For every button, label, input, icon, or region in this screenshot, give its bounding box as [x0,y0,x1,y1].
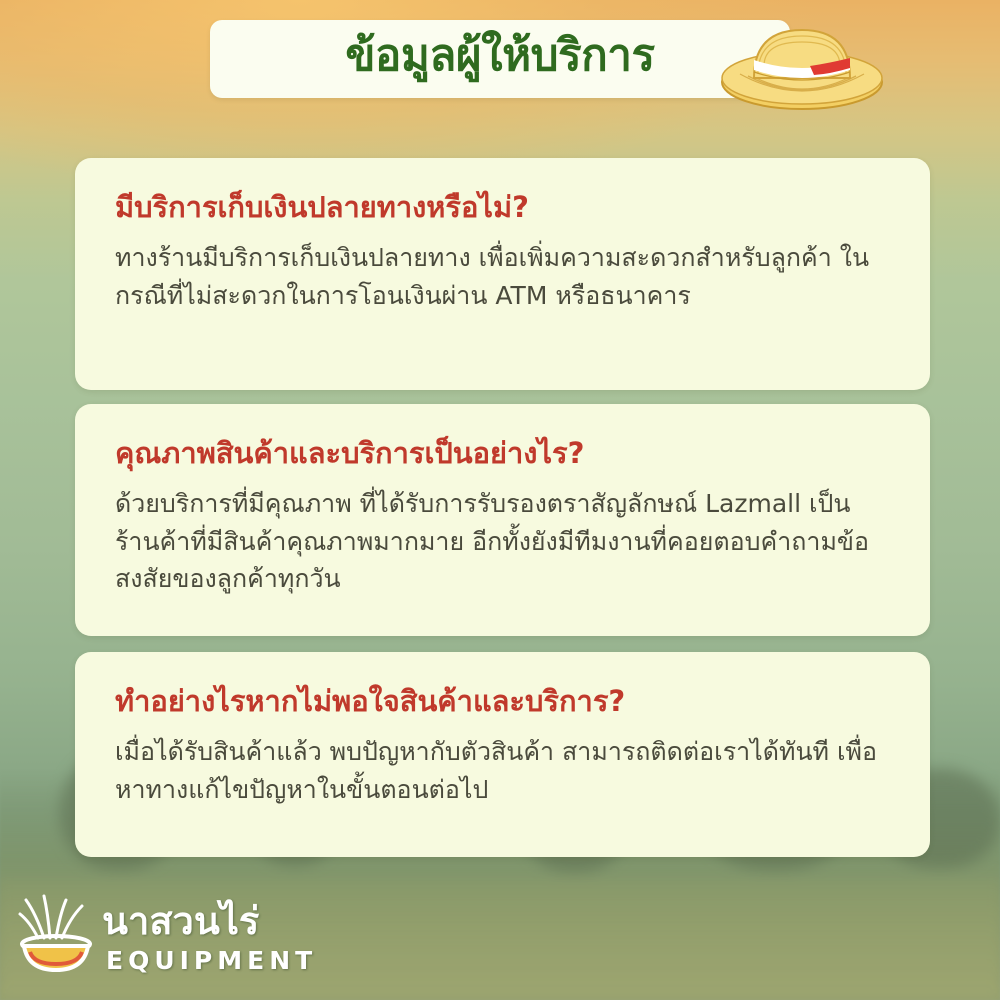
faq-card: มีบริการเก็บเงินปลายทางหรือไม่? ทางร้านม… [75,158,930,390]
faq-answer: เมื่อได้รับสินค้าแล้ว พบปัญหากับตัวสินค้… [115,733,890,808]
faq-answer: ทางร้านมีบริการเก็บเงินปลายทาง เพื่อเพิ่… [115,239,890,314]
faq-card: คุณภาพสินค้าและบริการเป็นอย่างไร? ด้วยบร… [75,404,930,636]
faq-answer: ด้วยบริการที่มีคุณภาพ ที่ได้รับการรับรอง… [115,485,890,598]
brand-subtitle: EQUIPMENT [106,948,317,973]
page-title: ข้อมูลผู้ให้บริการ [345,34,654,84]
brand-name: นาสวนไร่ [102,902,259,940]
brand-logo: นาสวนไร่ EQUIPMENT [14,890,314,990]
page-header: ข้อมูลผู้ให้บริการ [210,20,790,98]
faq-question: มีบริการเก็บเงินปลายทางหรือไม่? [115,188,890,227]
straw-hat-icon [718,8,886,118]
faq-question: ทำอย่างไรหากไม่พอใจสินค้าและบริการ? [115,682,890,721]
rice-bowl-plant-logo-icon [14,890,104,985]
faq-card: ทำอย่างไรหากไม่พอใจสินค้าและบริการ? เมื่… [75,652,930,857]
faq-question: คุณภาพสินค้าและบริการเป็นอย่างไร? [115,434,890,473]
